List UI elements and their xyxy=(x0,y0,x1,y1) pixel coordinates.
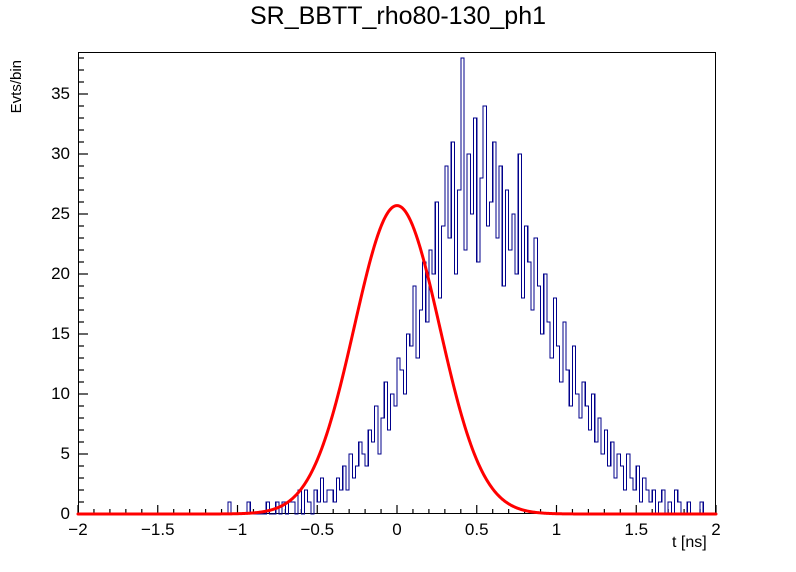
x-tick-label: 2 xyxy=(711,520,720,540)
y-tick-label: 15 xyxy=(32,324,70,344)
plot-graphics xyxy=(0,0,796,572)
y-tick-label: 10 xyxy=(32,384,70,404)
y-tick-label: 35 xyxy=(32,84,70,104)
x-tick-label: 0 xyxy=(392,520,401,540)
root-canvas: SR_BBTT_rho80-130_ph1 Evts/bin t [ns] −2… xyxy=(0,0,796,572)
x-tick-label: −1 xyxy=(228,520,247,540)
x-tick-label: 0.5 xyxy=(465,520,489,540)
x-tick-label: 1.5 xyxy=(624,520,648,540)
y-tick-label: 5 xyxy=(32,444,70,464)
x-tick-label: −2 xyxy=(68,520,87,540)
x-tick-label: −1.5 xyxy=(141,520,175,540)
histogram-series xyxy=(78,58,716,514)
y-tick-label: 20 xyxy=(32,264,70,284)
y-tick-label: 25 xyxy=(32,204,70,224)
x-tick-label: −0.5 xyxy=(300,520,334,540)
y-tick-label: 0 xyxy=(32,504,70,524)
x-tick-label: 1 xyxy=(552,520,561,540)
y-tick-label: 30 xyxy=(32,144,70,164)
axis-ticks xyxy=(78,58,716,514)
